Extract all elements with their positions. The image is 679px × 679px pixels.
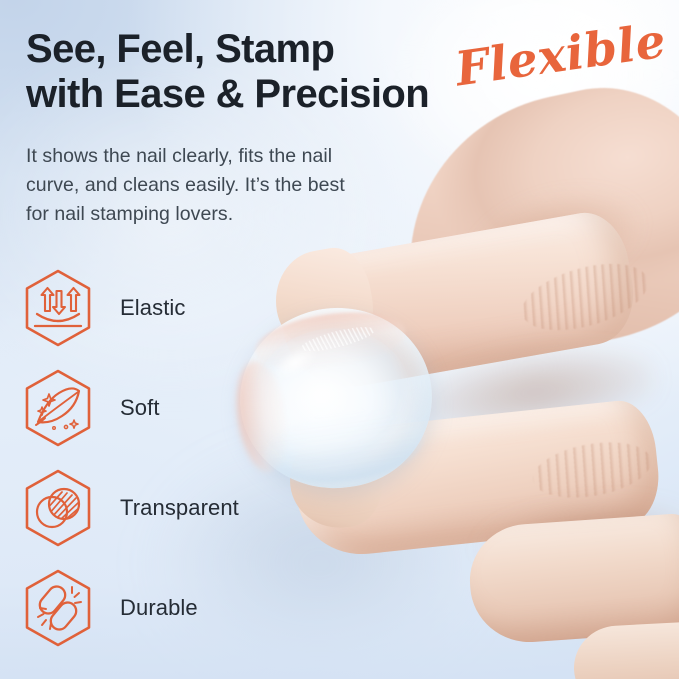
feature-item-transparent: Transparent [16, 458, 316, 558]
feature-label: Soft [120, 395, 160, 421]
feature-item-elastic: Elastic [16, 258, 316, 358]
page-title: See, Feel, Stamp with Ease & Precision [26, 27, 496, 117]
feature-item-soft: Soft [16, 358, 316, 458]
feature-label: Durable [120, 595, 198, 621]
subtitle-text: It shows the nail clearly, fits the nail… [26, 142, 426, 229]
overlapping-circles-hexagon-icon [16, 466, 100, 550]
feature-label: Elastic [120, 295, 186, 321]
feature-list: Elastic Soft [16, 258, 316, 658]
elastic-arrows-hexagon-icon [16, 266, 100, 350]
chain-link-hexagon-icon [16, 566, 100, 650]
feature-item-durable: Durable [16, 558, 316, 658]
feature-label: Transparent [120, 495, 239, 521]
product-feature-banner: See, Feel, Stamp with Ease & Precision F… [0, 0, 679, 679]
feather-sparkle-hexagon-icon [16, 366, 100, 450]
